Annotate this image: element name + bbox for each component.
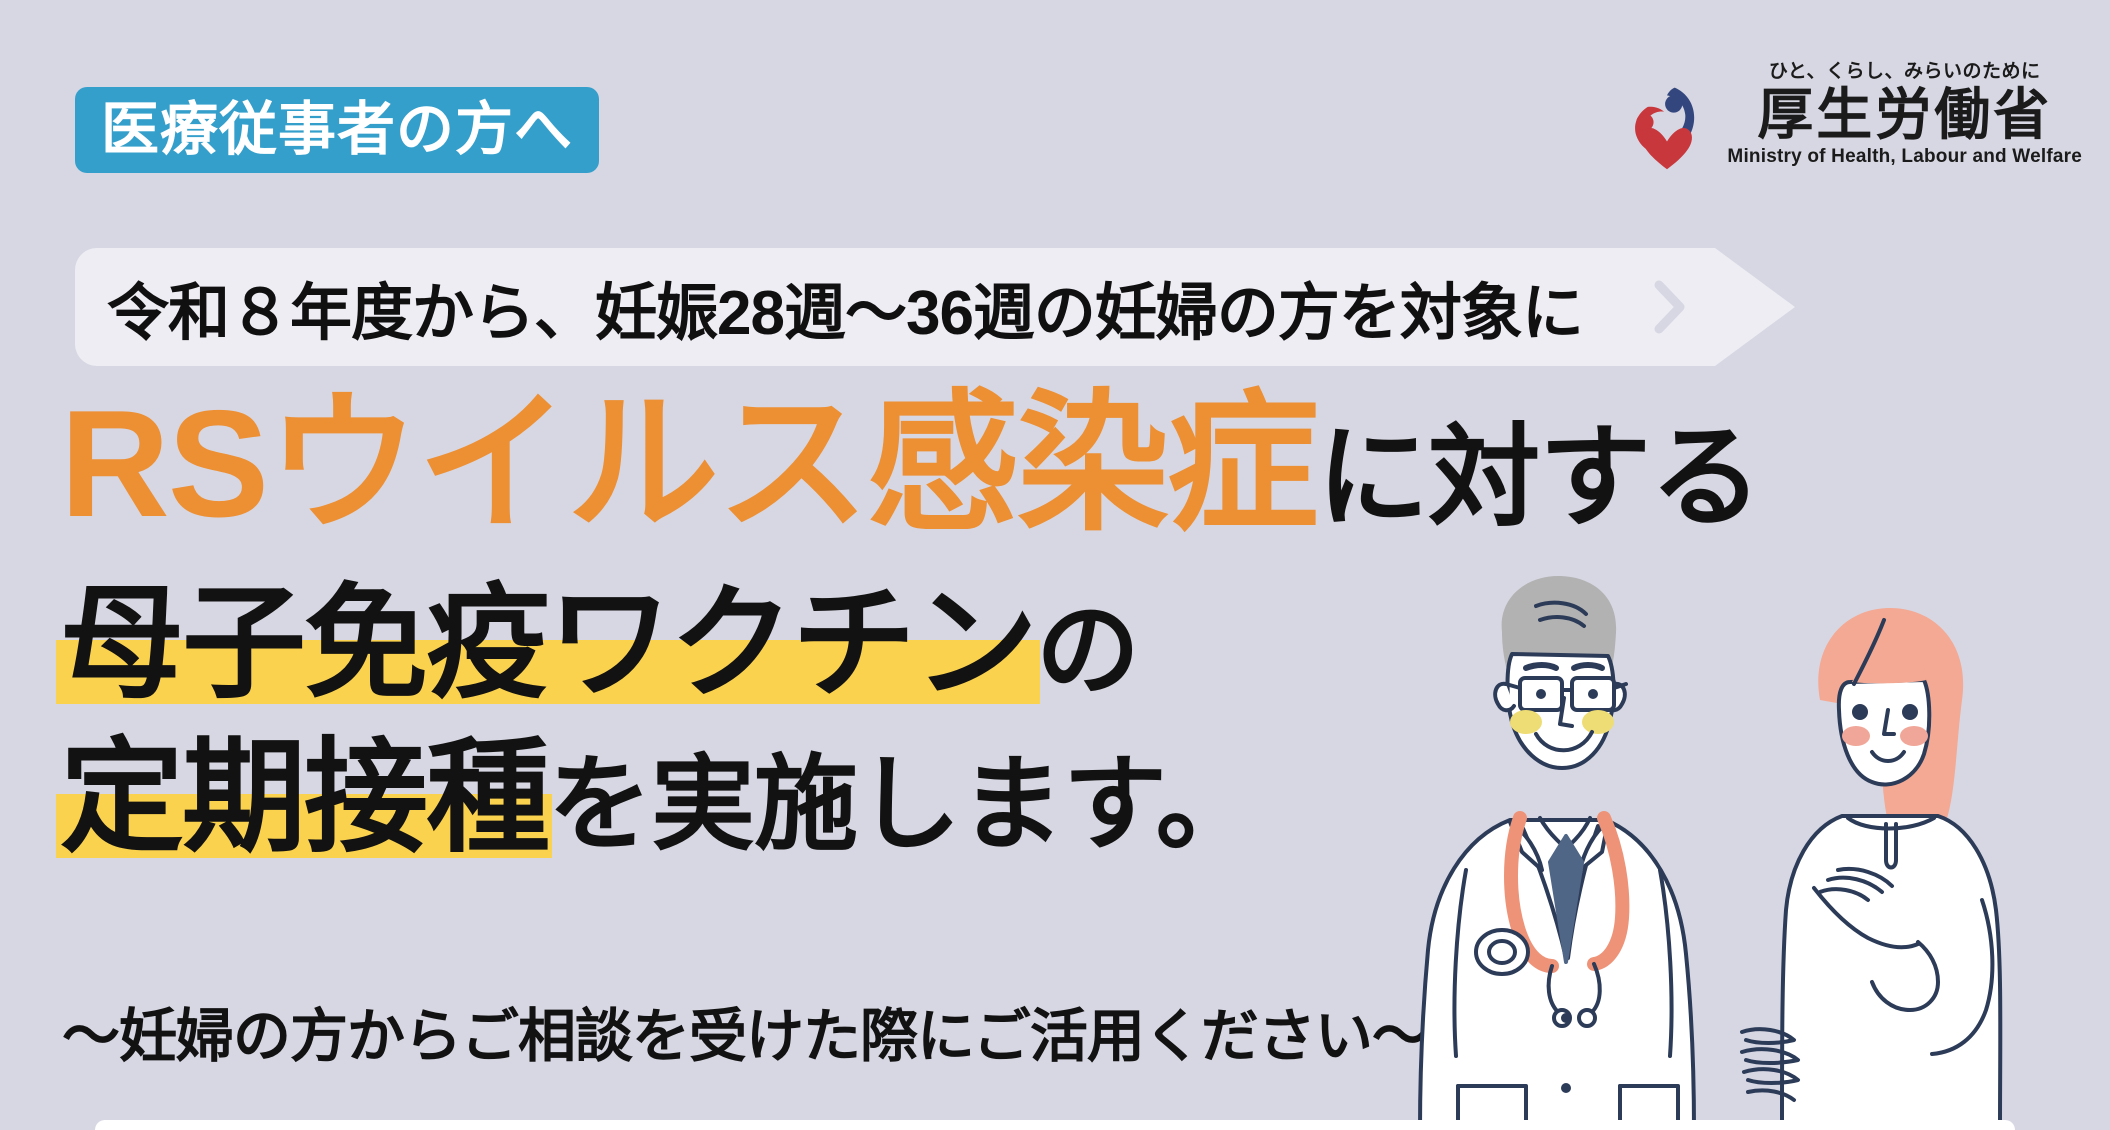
headline-line-3: 定期接種を実施します。 (60, 736, 1480, 860)
mhlw-name-ja: 厚生労働省 (1757, 86, 2052, 145)
chevron-right-icon (1653, 279, 1687, 335)
mhlw-name-en: Ministry of Health, Labour and Welfare (1727, 147, 2082, 168)
headline-vaccine-term: 母子免疫ワクチン (60, 582, 1036, 706)
pregnant-woman-figure (1742, 608, 2000, 1130)
audience-badge-label: 医療従事者の方へ (101, 101, 573, 159)
eligibility-banner-text: 令和８年度から、妊娠28週〜36週の妊婦の方を対象に (107, 248, 1583, 366)
bottom-content-card (95, 1120, 2015, 1130)
headline-line-2-tail: の (1036, 593, 1139, 709)
headline-subnote: 〜妊婦の方からご相談を受けた際にご活用ください〜 (62, 1008, 1429, 1066)
headline-block: RSウイルス感染症に対する 母子免疫ワクチンの 定期接種を実施します。 (60, 388, 1480, 884)
mhlw-wordmark: ひと、くらし、みらいのために 厚生労働省 Ministry of Health,… (1727, 62, 2082, 168)
headline-line-2: 母子免疫ワクチンの (60, 582, 1480, 706)
audience-badge: 医療従事者の方へ (75, 87, 599, 173)
eligibility-banner: 令和８年度から、妊娠28週〜36週の妊婦の方を対象に (75, 248, 1795, 366)
poster-canvas: 医療従事者の方へ ひと、くらし、みらいのために 厚生労働省 Ministry o… (0, 0, 2110, 1130)
mhlw-logo: ひと、くらし、みらいのために 厚生労働省 Ministry of Health,… (1619, 62, 2082, 176)
headline-line-3-tail: を実施します。 (548, 747, 1259, 863)
mhlw-emblem-icon (1619, 80, 1715, 176)
headline-routine-vaccination-term: 定期接種 (60, 736, 548, 860)
headline-disease-name: RSウイルス感染症 (60, 379, 1317, 549)
headline-line-1: RSウイルス感染症に対する (60, 388, 1480, 540)
headline-line-1-tail: に対する (1317, 415, 1761, 540)
mhlw-tagline: ひと、くらし、みらいのために (1769, 62, 2041, 83)
doctor-and-pregnant-woman-illustration (1390, 570, 2110, 1130)
